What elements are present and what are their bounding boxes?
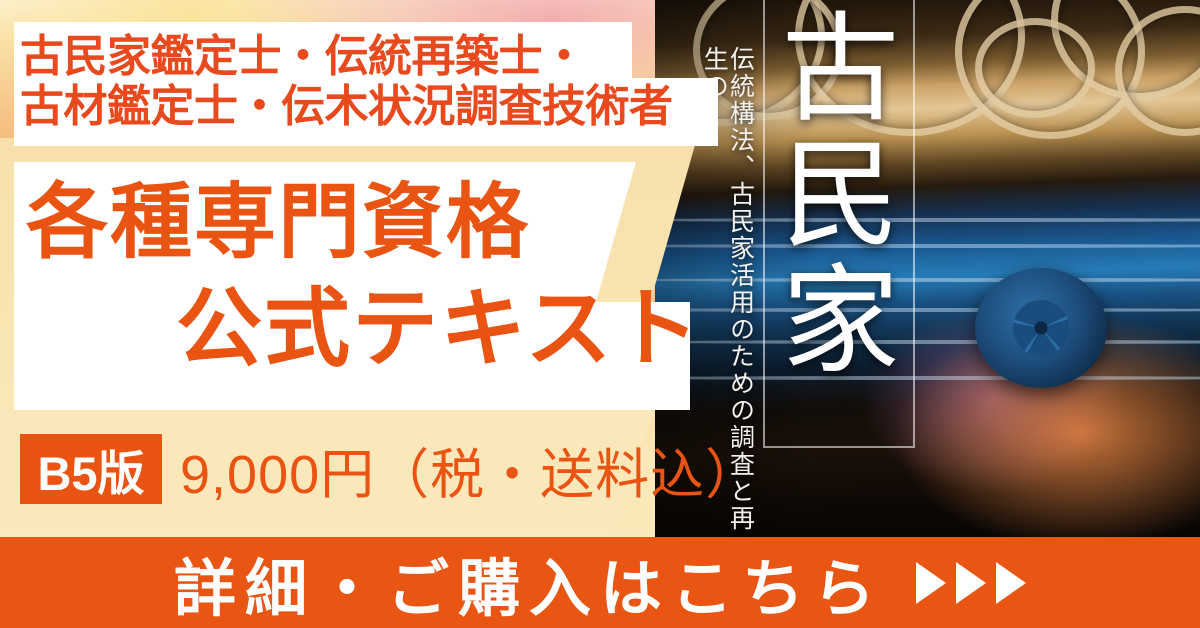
title-line-2: 公式テキスト bbox=[176, 286, 701, 372]
play-triangle-icon bbox=[916, 562, 946, 604]
cta-label: 詳細・ご購入はこちら bbox=[174, 538, 884, 628]
headline-line-1: 古民家鑑定士・伝統再築士・ bbox=[20, 34, 586, 81]
headline-line-2: 古材鑑定士・伝木状況調査技術者 bbox=[20, 84, 673, 131]
promo-banner: 古民家 伝統構法、古民家活用のための調査と再生の 古民家鑑定士・伝統再築士・ 古… bbox=[0, 0, 1200, 628]
play-triangle-icon bbox=[996, 562, 1026, 604]
format-badge: B5版 bbox=[20, 434, 162, 504]
title-line-1: 各種専門資格 bbox=[26, 182, 530, 264]
cta-arrows bbox=[916, 562, 1026, 604]
play-triangle-icon bbox=[956, 562, 986, 604]
cta-bar[interactable]: 詳細・ご購入はこちら bbox=[0, 537, 1200, 628]
cover-title-vertical: 古民家 bbox=[780, 6, 900, 384]
price-text: 9,000円（税・送料込） bbox=[180, 434, 760, 504]
